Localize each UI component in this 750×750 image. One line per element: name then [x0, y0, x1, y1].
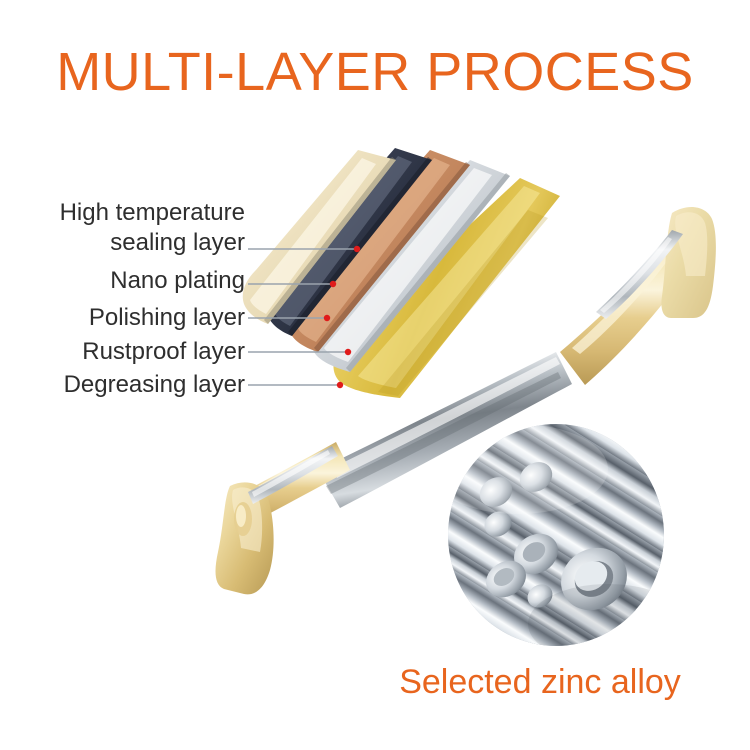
zinc-alloy-bars-group [448, 424, 664, 646]
handle-left-arm [216, 442, 350, 594]
callout-label-polishing-layer: Polishing layer [0, 303, 245, 333]
callout-label-high-temperature-sealing-layer: High temperature sealing layer [0, 198, 245, 258]
callout-label-degreasing-layer: Degreasing layer [0, 370, 245, 400]
callout-label-nano-plating: Nano plating [0, 266, 245, 296]
callout-label-rustproof-layer: Rustproof layer [0, 337, 245, 367]
zinc-alloy-inset [448, 424, 664, 646]
handle-right-arm [560, 207, 716, 385]
page-title: MULTI-LAYER PROCESS [0, 42, 750, 102]
infographic-page: MULTI-LAYER PROCESS High temperature sea… [0, 0, 750, 750]
inset-caption: Selected zinc alloy [355, 661, 725, 703]
